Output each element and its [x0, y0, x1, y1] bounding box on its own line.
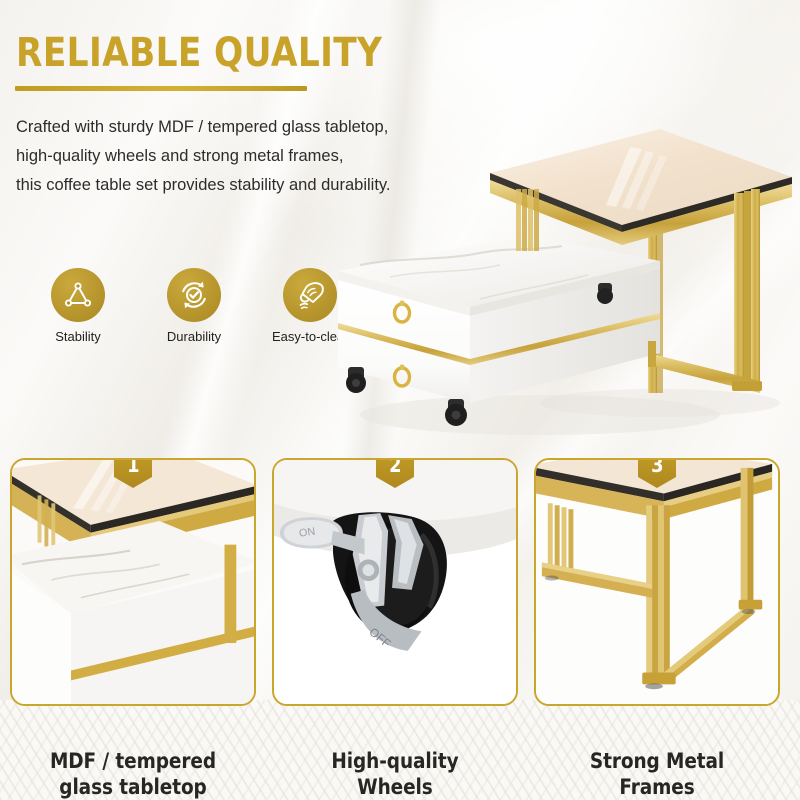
page-title: RELIABLE QUALITY	[16, 30, 382, 76]
svg-text:ON: ON	[298, 526, 316, 540]
infographic-page: RELIABLE QUALITY Crafted with sturdy MDF…	[0, 0, 800, 800]
detail-panel-row: 1	[0, 458, 800, 708]
stability-triangle-icon	[51, 268, 105, 322]
metal-frame-closeup-image	[536, 460, 778, 704]
feature-label: Durability	[156, 329, 232, 344]
durability-check-cycle-icon	[167, 268, 221, 322]
easy-to-clean-hand-wipe-icon	[283, 268, 337, 322]
feature-item-stability: Stability	[40, 268, 116, 344]
caption-tabletop: MDF / tempered glass tabletop	[10, 722, 256, 800]
feature-item-durability: Durability	[156, 268, 232, 344]
hero-product-image	[330, 85, 800, 455]
title-underline	[15, 86, 307, 91]
caster-wheel-closeup-image: ON OFF	[274, 460, 516, 704]
detail-panel-frames[interactable]: 3	[534, 458, 780, 706]
feature-label: Stability	[40, 329, 116, 344]
feature-icon-list: Stability Durability	[40, 268, 348, 344]
caption-wheels: High-quality Wheels	[272, 722, 518, 800]
tabletop-closeup-image	[12, 460, 254, 704]
detail-panel-wheels[interactable]: ON OFF 2	[272, 458, 518, 706]
detail-panel-tabletop[interactable]: 1	[10, 458, 256, 706]
caption-frames: Strong Metal Frames	[534, 722, 780, 800]
